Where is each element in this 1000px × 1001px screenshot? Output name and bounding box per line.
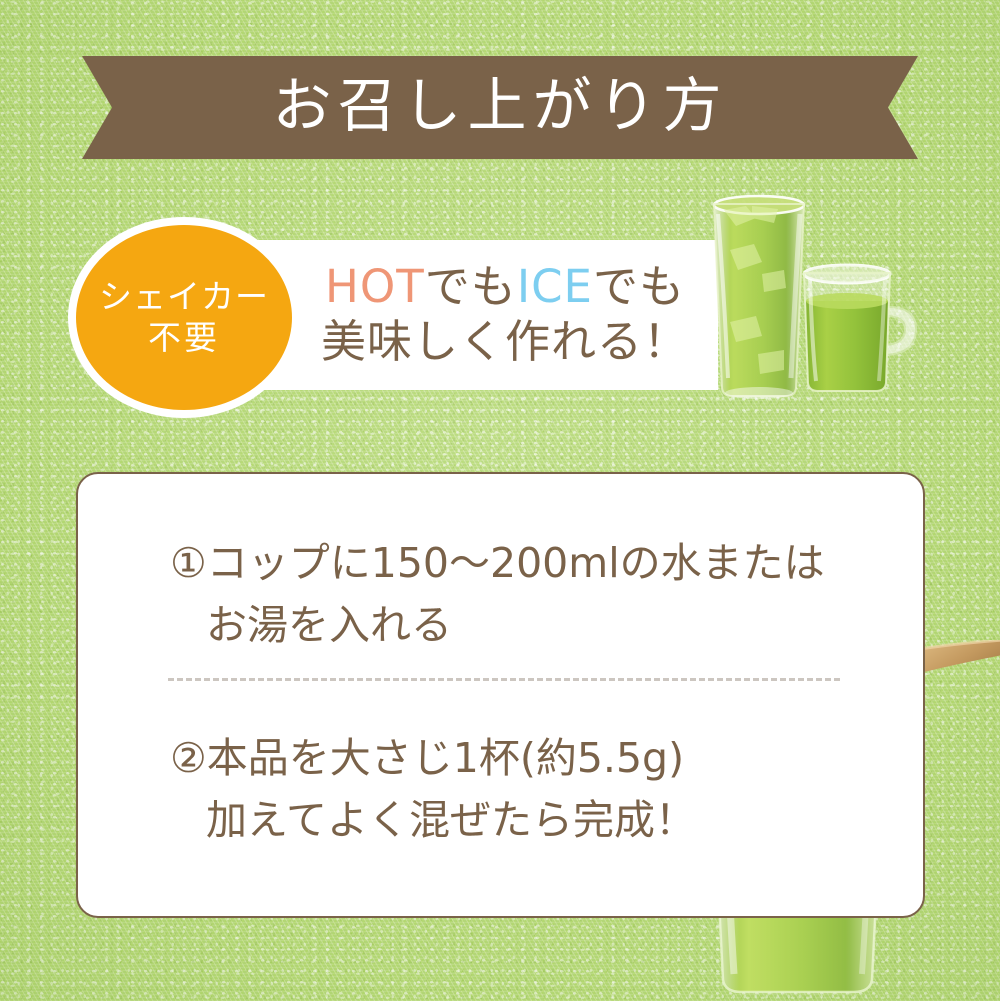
hot-label: HOT	[325, 260, 425, 313]
hot-ice-line-1: HOTでもICEでも	[325, 263, 685, 312]
title-ribbon: お召し上がり方	[82, 56, 918, 159]
step-1: ①コップに150〜200mlの水または お湯を入れる	[170, 533, 825, 656]
badge-line-2: 不要	[148, 319, 220, 358]
ice-suffix: でも	[593, 260, 685, 313]
hot-ice-banner-text: HOTでもICEでも 美味しく作れる！	[290, 240, 720, 390]
step-2-line-2: 加えてよく混ぜたら完成！	[206, 790, 696, 852]
hot-green-juice-mug	[790, 255, 925, 398]
hot-suffix: でも	[425, 260, 517, 313]
page-title: お召し上がり方	[82, 56, 918, 159]
step-2: ②本品を大さじ1杯(約5.5g) 加えてよく混ぜたら完成！	[170, 728, 696, 851]
instruction-graphic: お召し上がり方 HOTでもICEでも 美味しく作れる！ シェイカー 不要	[0, 0, 1000, 1001]
step-1-line-1: ①コップに150〜200mlの水または	[170, 539, 825, 587]
badge-line-1: シェイカー	[99, 278, 269, 317]
steps-divider	[168, 678, 840, 681]
ice-label: ICE	[517, 260, 593, 313]
step-2-line-1: ②本品を大さじ1杯(約5.5g)	[170, 734, 684, 782]
hot-ice-line-2: 美味しく作れる！	[321, 318, 689, 367]
step-1-line-2: お湯を入れる	[206, 595, 825, 657]
no-shaker-badge: シェイカー 不要	[76, 225, 292, 410]
